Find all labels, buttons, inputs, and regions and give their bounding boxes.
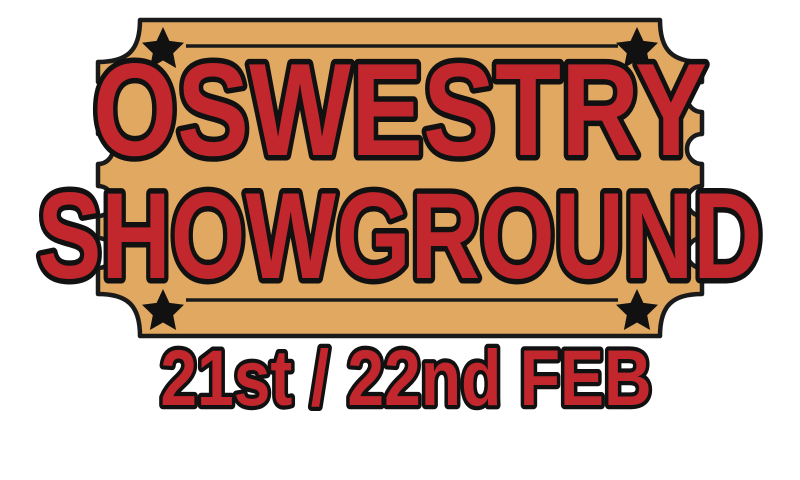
date-line: 21st / 22nd FEB	[160, 334, 651, 422]
ticket-graphic: OSWESTRY OSWESTRY SHOWGROUND SHOWGROUND …	[0, 0, 800, 480]
headline-line2: SHOWGROUND	[37, 168, 762, 305]
ticket-poster: OSWESTRY OSWESTRY SHOWGROUND SHOWGROUND …	[0, 0, 800, 480]
headline-line1: OSWESTRY	[93, 36, 707, 184]
